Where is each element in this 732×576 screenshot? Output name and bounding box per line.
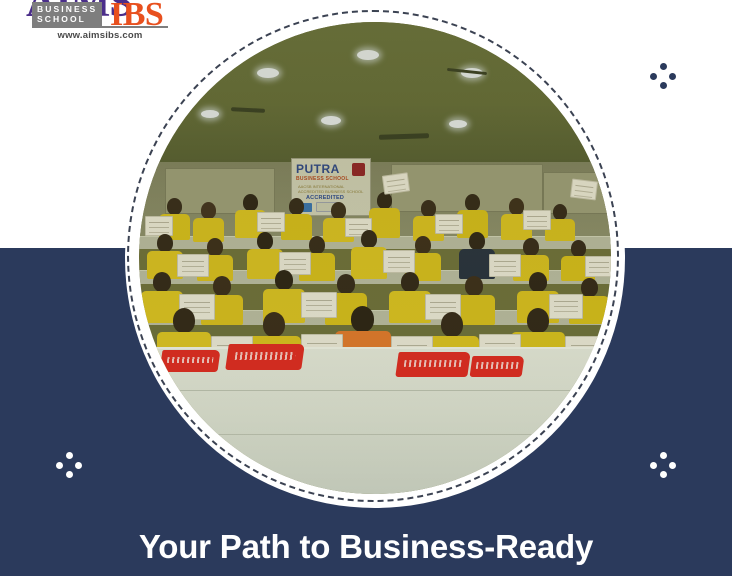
certificate xyxy=(383,250,415,273)
certificate xyxy=(257,212,285,232)
person-body xyxy=(193,218,224,242)
dot xyxy=(66,452,73,459)
ceiling-light-2 xyxy=(357,50,379,60)
certificate xyxy=(523,210,551,230)
person-head xyxy=(441,312,463,337)
dot xyxy=(660,452,667,459)
person-head xyxy=(153,272,171,292)
poster-canvas: PUTRA BUSINESS SCHOOL AACSB INTERNATIONA… xyxy=(0,0,732,576)
logo-divider xyxy=(32,26,168,28)
person-body xyxy=(281,214,312,240)
person-head xyxy=(275,270,293,290)
person-head xyxy=(527,308,549,333)
bag-print xyxy=(476,362,518,368)
person-head xyxy=(529,272,547,292)
dot xyxy=(669,462,676,469)
dot-cluster-icon-bottom-right xyxy=(650,452,676,478)
person-head xyxy=(263,312,285,337)
person-head xyxy=(213,276,231,296)
logo-business-school-badge: BUSINESS SCHOOL xyxy=(32,2,102,28)
bag-print xyxy=(166,357,213,364)
person-body xyxy=(351,247,387,279)
person-head xyxy=(465,276,483,296)
banner-accredited: ACCREDITED xyxy=(306,195,344,201)
person-head xyxy=(207,238,223,256)
certificate xyxy=(585,256,611,277)
ceiling-light-1 xyxy=(257,68,279,78)
dot xyxy=(660,63,667,70)
banner-small-line: AACSB INTERNATIONAL ACCREDITED BUSINESS … xyxy=(298,184,370,194)
photo-scene: PUTRA BUSINESS SCHOOL AACSB INTERNATIONA… xyxy=(139,22,611,494)
bag-print xyxy=(234,352,296,360)
person-head xyxy=(553,204,567,220)
banner-title: PUTRA xyxy=(296,162,340,176)
ceiling-light-6 xyxy=(201,110,219,118)
person-head xyxy=(465,194,480,211)
dot xyxy=(66,471,73,478)
certificate xyxy=(435,214,463,234)
red-bag xyxy=(159,350,220,372)
group-photo: PUTRA BUSINESS SCHOOL AACSB INTERNATIONA… xyxy=(139,22,611,494)
dot-cluster-icon-top-right xyxy=(650,63,676,89)
bag-print xyxy=(404,360,463,368)
dot xyxy=(650,462,657,469)
person-head xyxy=(167,198,182,215)
certificate-raised xyxy=(570,178,598,200)
person-head xyxy=(201,202,216,219)
person-head xyxy=(331,202,346,219)
circular-photo-frame: PUTRA BUSINESS SCHOOL AACSB INTERNATIONA… xyxy=(125,8,625,508)
dot xyxy=(56,462,63,469)
person-head xyxy=(469,232,485,250)
banner-seal-icon xyxy=(352,163,365,176)
certificate-raised xyxy=(382,172,410,194)
dot xyxy=(669,73,676,80)
desk-edge-line-1 xyxy=(139,390,611,391)
certificate xyxy=(145,216,173,236)
certificate xyxy=(177,254,209,277)
person-head xyxy=(173,308,195,333)
dot xyxy=(75,462,82,469)
certificate xyxy=(549,294,583,319)
person-head xyxy=(523,238,539,256)
person-head xyxy=(415,236,431,254)
person-head xyxy=(309,236,325,254)
banner-subtitle: BUSINESS SCHOOL xyxy=(296,176,349,182)
person-head xyxy=(243,194,258,211)
logo-website-url: www.aimsibs.com xyxy=(32,30,168,41)
desk-edge-line-2 xyxy=(139,434,611,435)
person-head xyxy=(257,232,273,250)
person-head xyxy=(337,274,355,294)
dot xyxy=(660,82,667,89)
certificate xyxy=(301,292,337,318)
person-head xyxy=(509,198,524,215)
person-head xyxy=(157,234,173,252)
person-head xyxy=(361,230,377,248)
brand-logo[interactable]: AIMS IBS BUSINESS SCHOOL www.aimsibs.com xyxy=(14,0,184,62)
person-head xyxy=(351,306,374,332)
dot xyxy=(660,471,667,478)
red-bag xyxy=(395,352,471,377)
dot-cluster-icon-bottom-left xyxy=(56,452,82,478)
red-bag xyxy=(470,356,525,377)
headline-text: Your Path to Business-Ready xyxy=(0,528,732,566)
person-head xyxy=(581,278,598,297)
certificate xyxy=(489,254,521,277)
red-bag xyxy=(225,344,305,370)
person-head xyxy=(571,240,586,257)
person-head xyxy=(421,200,436,217)
ceiling-light-4 xyxy=(321,116,341,125)
logo-school-line: SCHOOL xyxy=(37,15,97,25)
ceiling-light-5 xyxy=(449,120,467,128)
person-head xyxy=(401,272,419,292)
person-head xyxy=(289,198,304,215)
ceiling xyxy=(139,22,611,170)
dot xyxy=(650,73,657,80)
